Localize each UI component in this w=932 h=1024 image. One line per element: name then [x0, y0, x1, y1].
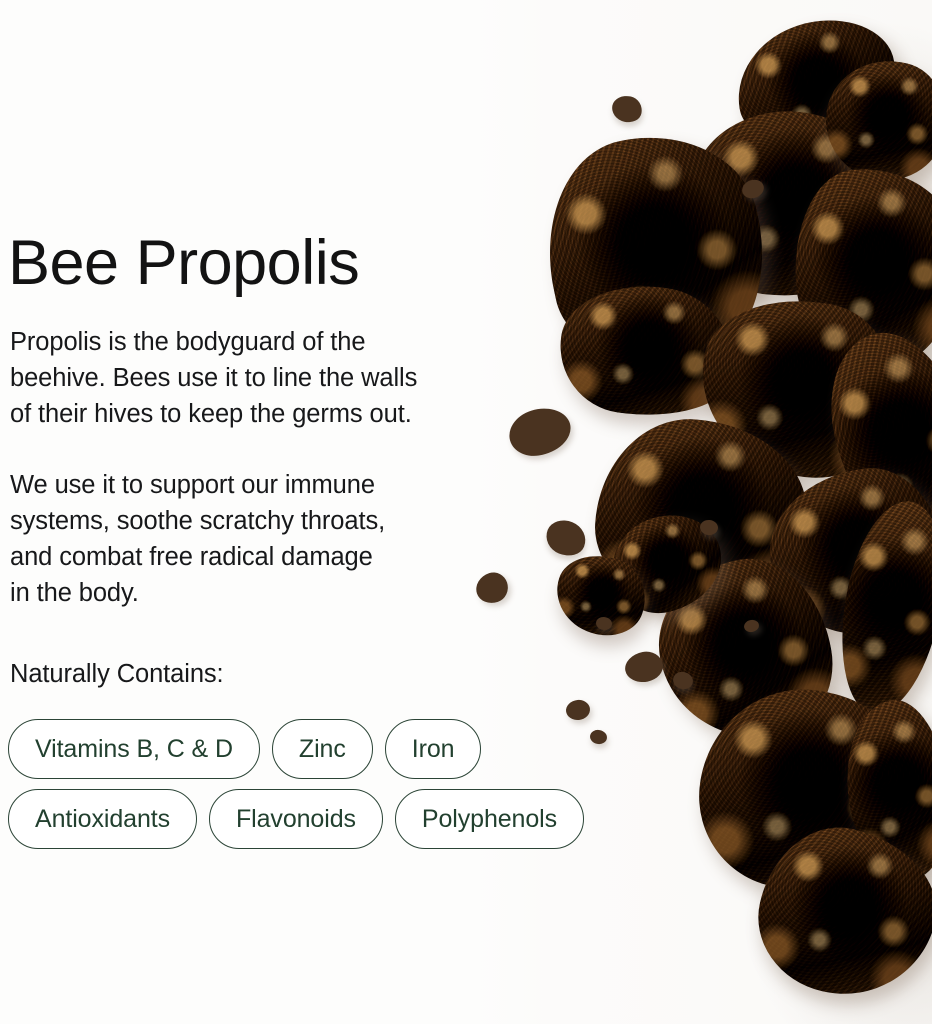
intro-paragraph-2: We use it to support our immune systems,… [10, 467, 385, 611]
propolis-chunk [689, 678, 927, 903]
propolis-chunk [681, 102, 909, 308]
ingredient-pill-zinc[interactable]: Zinc [272, 719, 373, 779]
ingredient-pill-iron[interactable]: Iron [385, 719, 482, 779]
naturally-contains-label: Naturally Contains: [10, 657, 224, 691]
propolis-chunk [813, 47, 932, 192]
page-title: Bee Propolis [8, 232, 359, 295]
propolis-chunk [810, 316, 932, 563]
ingredient-pill-antioxidants[interactable]: Antioxidants [8, 789, 197, 849]
propolis-chunk [839, 695, 932, 884]
ingredient-pill-flavonoids[interactable]: Flavonoids [209, 789, 383, 849]
ingredient-pill-row-1: Vitamins B, C & D Zinc Iron [8, 719, 708, 779]
bee-propolis-infographic: Bee Propolis Propolis is the bodyguard o… [0, 0, 932, 1024]
ingredient-pill-polyphenols[interactable]: Polyphenols [395, 789, 584, 849]
propolis-chunk [728, 10, 906, 161]
propolis-chunk [761, 460, 932, 645]
text-column: Bee Propolis Propolis is the bodyguard o… [8, 0, 708, 1024]
propolis-crumb [740, 177, 767, 201]
ingredient-pill-row-2: Antioxidants Flavonoids Polyphenols [8, 789, 708, 849]
ingredient-pill-vitamins[interactable]: Vitamins B, C & D [8, 719, 260, 779]
propolis-chunk [787, 161, 932, 375]
propolis-crumb [743, 619, 760, 634]
intro-paragraph-1: Propolis is the bodyguard of the beehive… [10, 324, 417, 432]
propolis-chunk [744, 812, 932, 1012]
propolis-chunk [829, 494, 932, 721]
ingredient-pill-group: Vitamins B, C & D Zinc Iron Antioxidants… [8, 719, 708, 859]
propolis-chunk [685, 283, 915, 493]
